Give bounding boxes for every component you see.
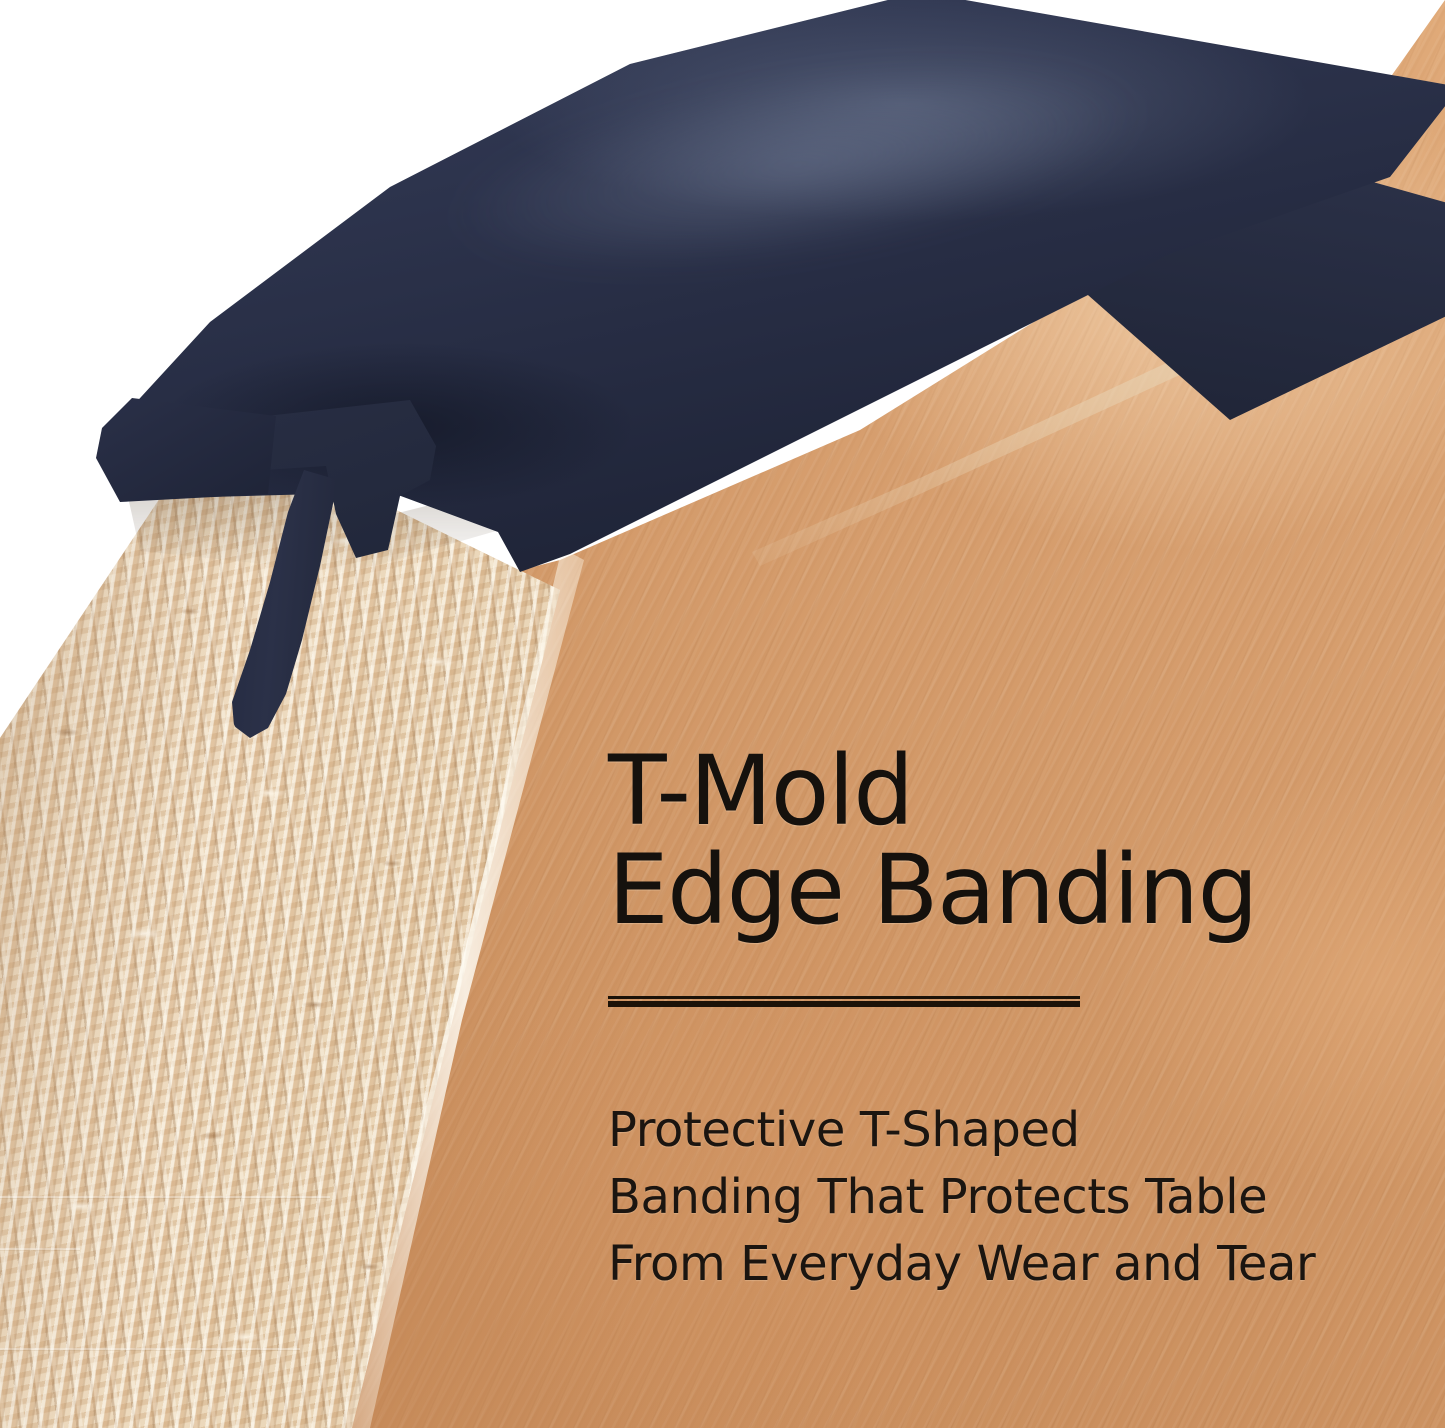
- marketing-copy-block: T-Mold Edge Banding Protective T-Shaped …: [608, 742, 1368, 1298]
- photo-seam-line: [0, 1248, 80, 1250]
- product-description: Protective T-Shaped Banding That Protect…: [608, 1097, 1368, 1299]
- divider: [608, 996, 1080, 1007]
- headline-line-1: T-Mold: [608, 742, 1368, 841]
- headline-line-2: Edge Banding: [608, 841, 1368, 940]
- description-line-3: From Everyday Wear and Tear: [608, 1231, 1368, 1298]
- description-line-1: Protective T-Shaped: [608, 1097, 1368, 1164]
- product-feature-image: T-Mold Edge Banding Protective T-Shaped …: [0, 0, 1445, 1428]
- page-title: T-Mold Edge Banding: [608, 742, 1368, 940]
- photo-seam-line: [0, 1348, 300, 1350]
- photo-seam-line: [0, 1196, 330, 1198]
- description-line-2: Banding That Protects Table: [608, 1164, 1368, 1231]
